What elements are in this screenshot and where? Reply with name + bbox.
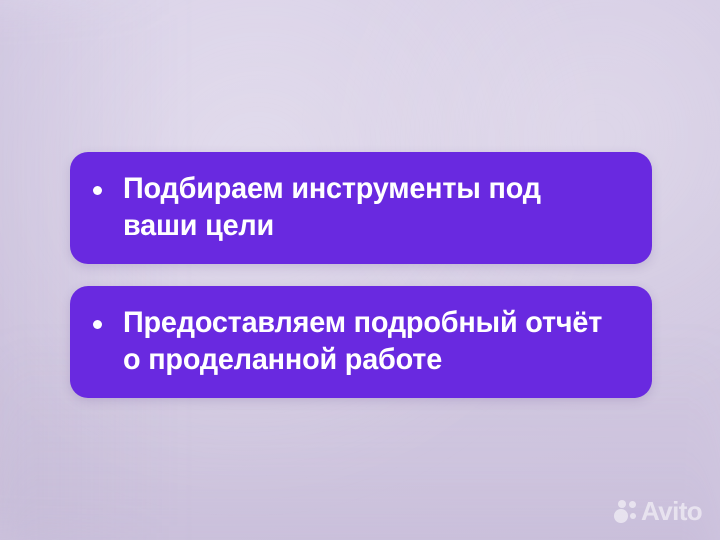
bullet-card-text: Предоставляем подробный отчёт о проделан…	[123, 304, 606, 378]
bullet-card-text: Подбираем инструменты под ваши цели	[123, 170, 606, 244]
avito-watermark: Avito	[614, 498, 702, 524]
avito-wordmark: Avito	[641, 498, 702, 524]
bullet-dot-icon	[93, 186, 102, 195]
bullet-card: Подбираем инструменты под ваши цели	[70, 152, 652, 264]
avito-dots-icon	[614, 499, 638, 524]
bullet-dot-icon	[93, 320, 102, 329]
bullet-card-list: Подбираем инструменты под ваши цели Пред…	[70, 152, 652, 398]
bullet-card: Предоставляем подробный отчёт о проделан…	[70, 286, 652, 398]
promo-poster: Подбираем инструменты под ваши цели Пред…	[0, 0, 720, 540]
